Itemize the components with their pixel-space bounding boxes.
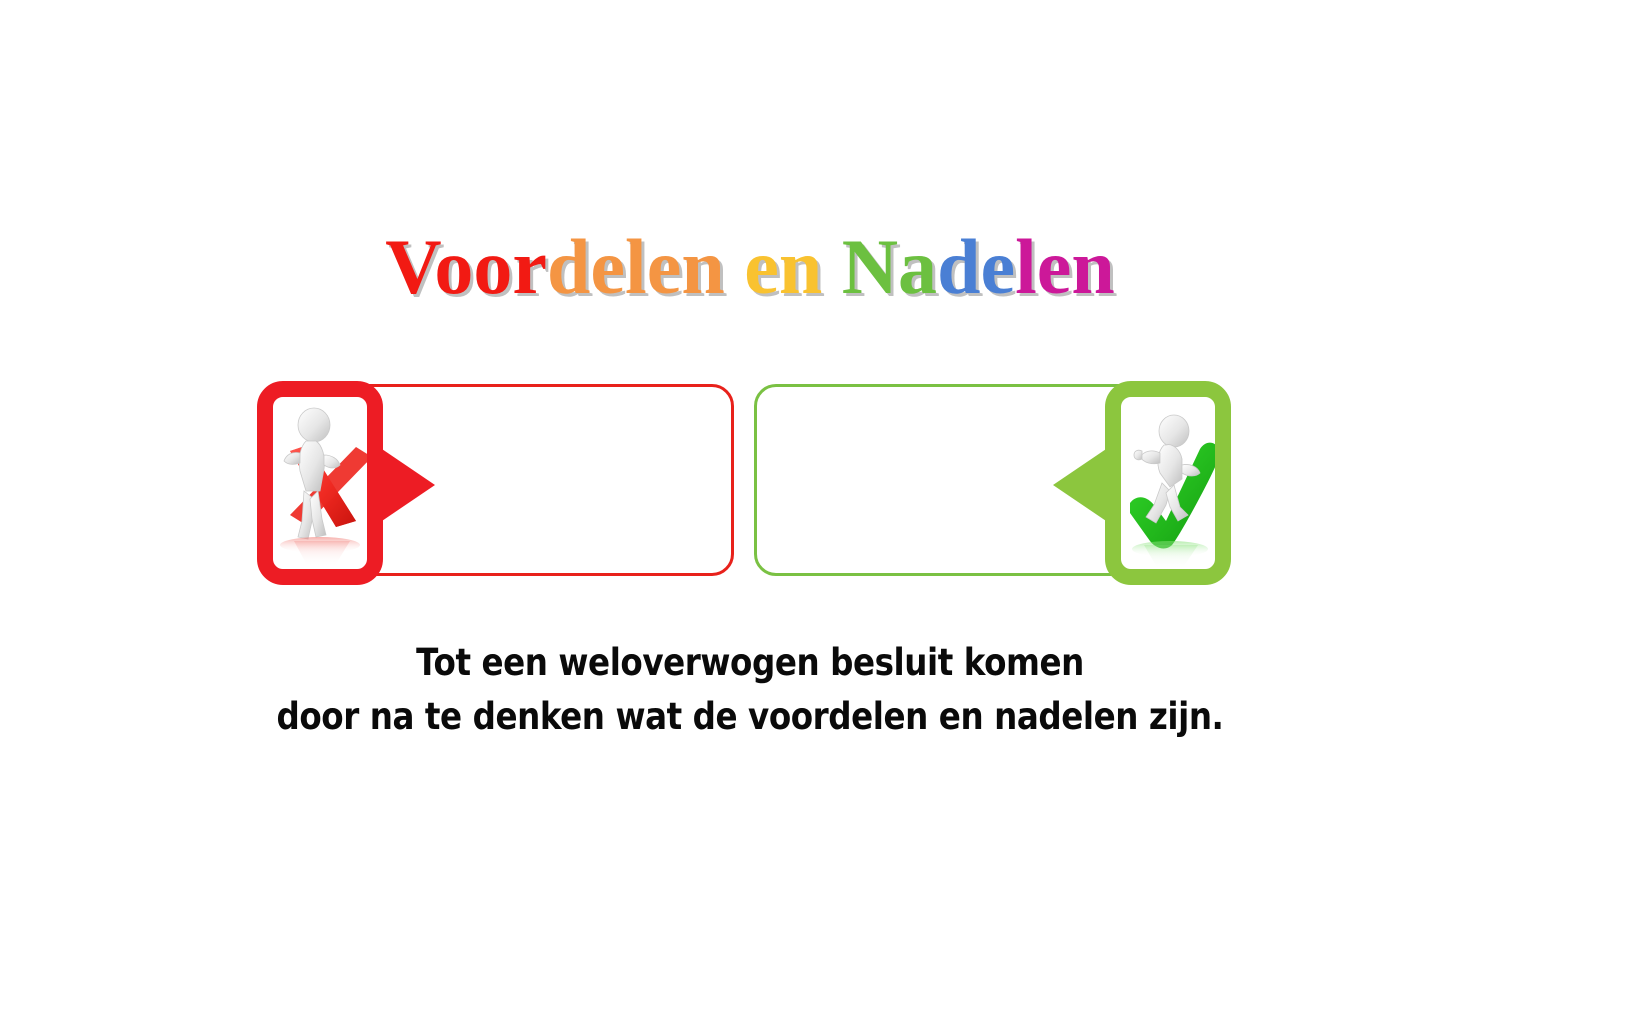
panel-disadvantages-body[interactable] — [401, 401, 715, 559]
title-space-2 — [822, 223, 842, 310]
title-segment-voor: Voor — [385, 223, 547, 310]
title-segment-delen: delen — [547, 223, 725, 310]
title-segment-na: Na — [842, 223, 937, 310]
red-cross-figure-icon — [273, 397, 367, 569]
panel-advantages[interactable] — [754, 384, 1230, 576]
icon-inner-disadvantages — [273, 397, 367, 569]
caption-line-2: door na te denken wat de voordelen en na… — [90, 690, 1410, 744]
panels-row — [258, 384, 1230, 580]
title-space-1 — [725, 223, 745, 310]
panel-advantages-body[interactable] — [773, 401, 1087, 559]
icon-tab-advantages — [1105, 381, 1231, 585]
caption-text: Tot een weloverwogen besluit komen door … — [90, 636, 1410, 744]
page-title: Voordelen en Nadelen — [0, 228, 1500, 306]
icon-tab-disadvantages — [257, 381, 383, 585]
green-check-figure-icon — [1121, 397, 1215, 569]
icon-inner-advantages — [1121, 397, 1215, 569]
title-segment-en: en — [744, 223, 822, 310]
caption-line-1: Tot een weloverwogen besluit komen — [90, 636, 1410, 690]
title-segment-len: len — [1015, 223, 1115, 310]
title-segment-de: de — [937, 223, 1015, 310]
panel-disadvantages[interactable] — [258, 384, 734, 576]
